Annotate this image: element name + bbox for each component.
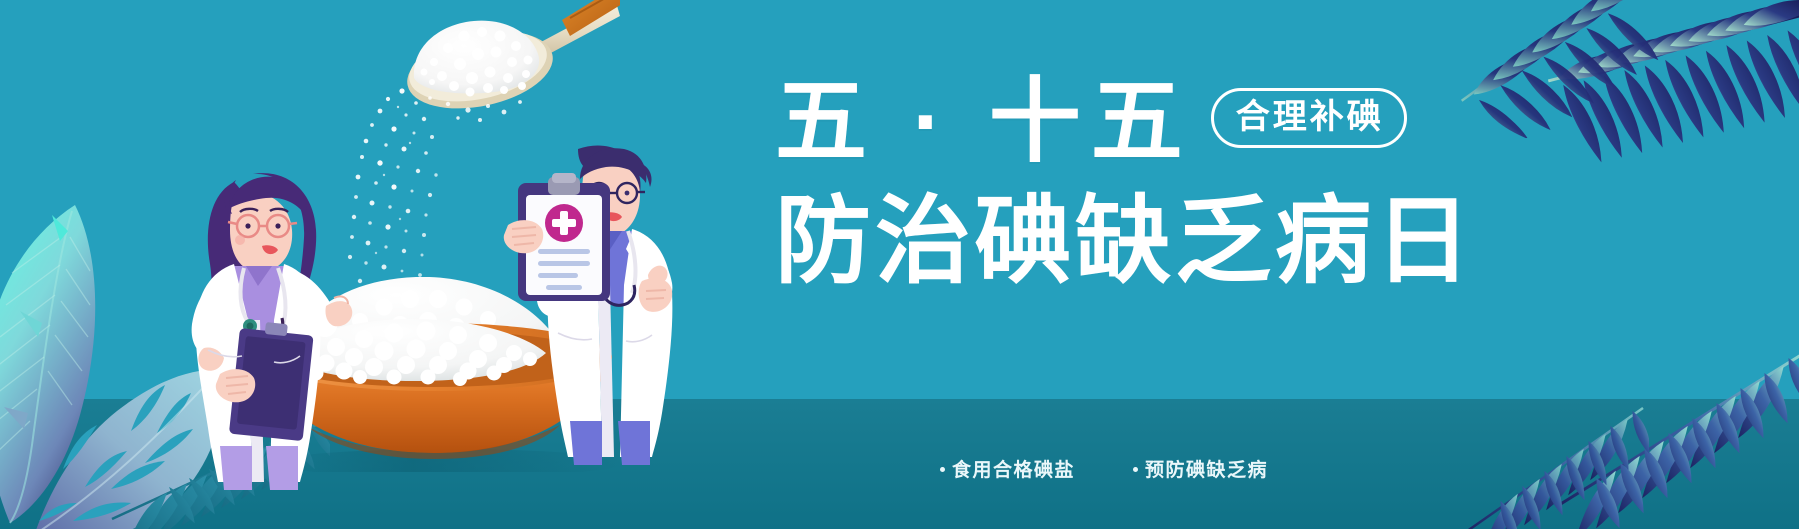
tagline-item-2: 预防碘缺乏病 [1133,455,1268,482]
tagline-row: 食用合格碘盐 预防碘缺乏病 [940,455,1268,482]
male-doctor-illustration [500,135,695,465]
headline-line-one-row: 五 · 十五 合理补碘 [775,72,1415,172]
iodine-deficiency-day-banner: 五 · 十五 合理补碘 防治碘缺乏病日 食用合格碘盐 预防碘缺乏病 [0,0,1799,529]
female-doctor-illustration [148,160,353,490]
headline-block: 五 · 十五 合理补碘 防治碘缺乏病日 [775,72,1415,322]
headline-date: 五 · 十五 [775,72,1193,172]
tagline-item-1: 食用合格碘盐 [940,455,1075,482]
wooden-spoon-with-salt-icon [330,0,620,122]
bullet-dot-icon [940,467,945,472]
tagline-item-2-label: 预防碘缺乏病 [1145,455,1268,482]
slogan-badge: 合理补碘 [1211,88,1407,148]
headline-title: 防治碘缺乏病日 [775,188,1415,296]
bullet-dot-icon [1133,467,1138,472]
tagline-item-1-label: 食用合格碘盐 [952,455,1075,482]
